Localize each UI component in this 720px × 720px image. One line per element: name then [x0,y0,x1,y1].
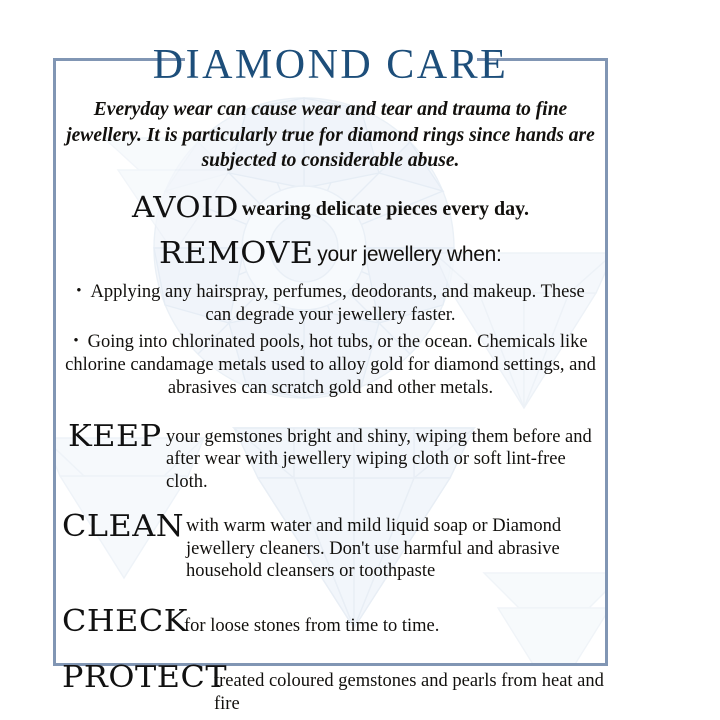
section-keep: KEEP your gemstones bright and shiny, wi… [56,422,605,494]
keyword-clean: CLEAN [62,512,184,542]
clean-body-text: with warm water and mild liquid soap or … [186,512,605,583]
protect-body-text: treated coloured gemstones and pearls fr… [214,663,605,715]
page-title: DIAMOND CARE [56,40,605,90]
remove-body-text: your jewellery when: [317,243,501,266]
check-body-text: for loose stones from time to time. [184,607,605,638]
bullet-dot-icon: • [76,280,81,303]
section-clean: CLEAN with warm water and mild liquid so… [56,512,605,583]
list-item-text: Going into chlorinated pools, hot tubs, … [65,332,596,398]
keyword-protect: PROTECT [62,663,227,693]
frame-border-right [605,58,608,666]
intro-paragraph: Everyday wear can cause wear and tear an… [56,97,605,174]
list-item: •Going into chlorinated pools, hot tubs,… [56,330,605,400]
diamond-care-poster: DIAMOND CARE Everyday wear can cause wea… [0,0,720,720]
section-remove: REMOVEyour jewellery when: [56,236,605,271]
bullet-dot-icon: • [73,330,78,353]
avoid-body-text: wearing delicate pieces every day. [242,198,529,220]
keep-body-text: your gemstones bright and shiny, wiping … [166,422,605,494]
keyword-keep: KEEP [68,422,162,452]
list-item-text: Applying any hairspray, perfumes, deodor… [91,282,585,325]
section-check: CHECK for loose stones from time to time… [56,607,605,638]
list-item: •Applying any hairspray, perfumes, deodo… [56,280,605,327]
check-keyword-cell: CHECK [62,607,184,637]
poster-content: DIAMOND CARE Everyday wear can cause wea… [56,40,605,720]
remove-bullet-list: •Applying any hairspray, perfumes, deodo… [56,280,605,400]
keyword-avoid: AVOID [132,190,239,224]
keyword-remove: REMOVE [159,236,314,271]
section-protect: PROTECT treated coloured gemstones and p… [56,663,605,715]
keyword-check: CHECK [62,607,188,637]
clean-keyword-cell: CLEAN [62,512,186,542]
section-avoid: AVOIDwearing delicate pieces every day. [56,190,605,224]
protect-keyword-cell: PROTECT [62,663,214,693]
keep-keyword-cell: KEEP [62,422,166,452]
